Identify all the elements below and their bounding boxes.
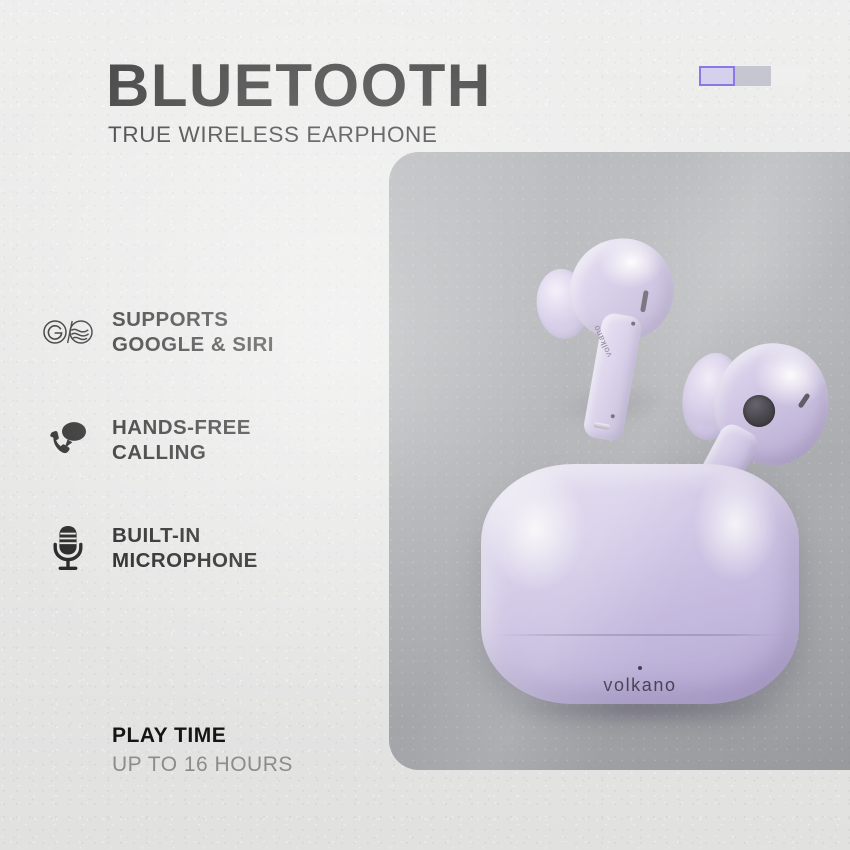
play-time-value: UP TO 16 HOURS — [112, 753, 293, 777]
charging-case-hinge — [494, 634, 787, 636]
color-swatch-lilac[interactable] — [699, 66, 735, 86]
play-time-block: PLAY TIME UP TO 16 HOURS — [112, 724, 293, 777]
charging-case: volkano — [481, 464, 799, 704]
charging-case-led — [638, 666, 642, 670]
play-time-title: PLAY TIME — [112, 724, 293, 748]
feature-item-built-in-microphone: BUILT-IN MICROPHONE — [42, 522, 352, 574]
product-poster: volkano volkano BLUETOOTH TRUE WIRELESS … — [0, 0, 850, 850]
feature-label-hands-free-calling: HANDS-FREE CALLING — [112, 415, 251, 465]
feature-item-hands-free-calling: HANDS-FREE CALLING — [42, 414, 352, 466]
feature-line-2: MICROPHONE — [112, 548, 258, 573]
color-swatch-off-white[interactable] — [771, 66, 807, 86]
heading-block: BLUETOOTH TRUE WIRELESS EARPHONE — [106, 56, 492, 148]
product-image-panel: volkano volkano — [389, 152, 850, 770]
feature-line-1: HANDS-FREE — [112, 415, 251, 440]
charging-case-brand: volkano — [481, 675, 799, 696]
feature-line-1: SUPPORTS — [112, 307, 274, 332]
page-subtitle: TRUE WIRELESS EARPHONE — [108, 122, 492, 148]
earbud-left: volkano — [530, 225, 692, 458]
microphone-icon — [42, 522, 94, 574]
color-swatch-grey-lavender[interactable] — [735, 66, 771, 86]
feature-line-2: CALLING — [112, 440, 251, 465]
feature-label-built-in-microphone: BUILT-IN MICROPHONE — [112, 523, 258, 573]
page-title: BLUETOOTH — [106, 56, 492, 116]
feature-line-2: GOOGLE & SIRI — [112, 332, 274, 357]
phone-speech-bubble-icon — [42, 414, 94, 466]
google-siri-icon — [42, 306, 94, 358]
color-swatch-group[interactable] — [699, 66, 807, 86]
feature-item-voice-assistant: SUPPORTS GOOGLE & SIRI — [42, 306, 352, 358]
feature-list: SUPPORTS GOOGLE & SIRI HANDS-FREE CALLIN… — [42, 306, 352, 630]
feature-line-1: BUILT-IN — [112, 523, 258, 548]
feature-label-voice-assistant: SUPPORTS GOOGLE & SIRI — [112, 307, 274, 357]
